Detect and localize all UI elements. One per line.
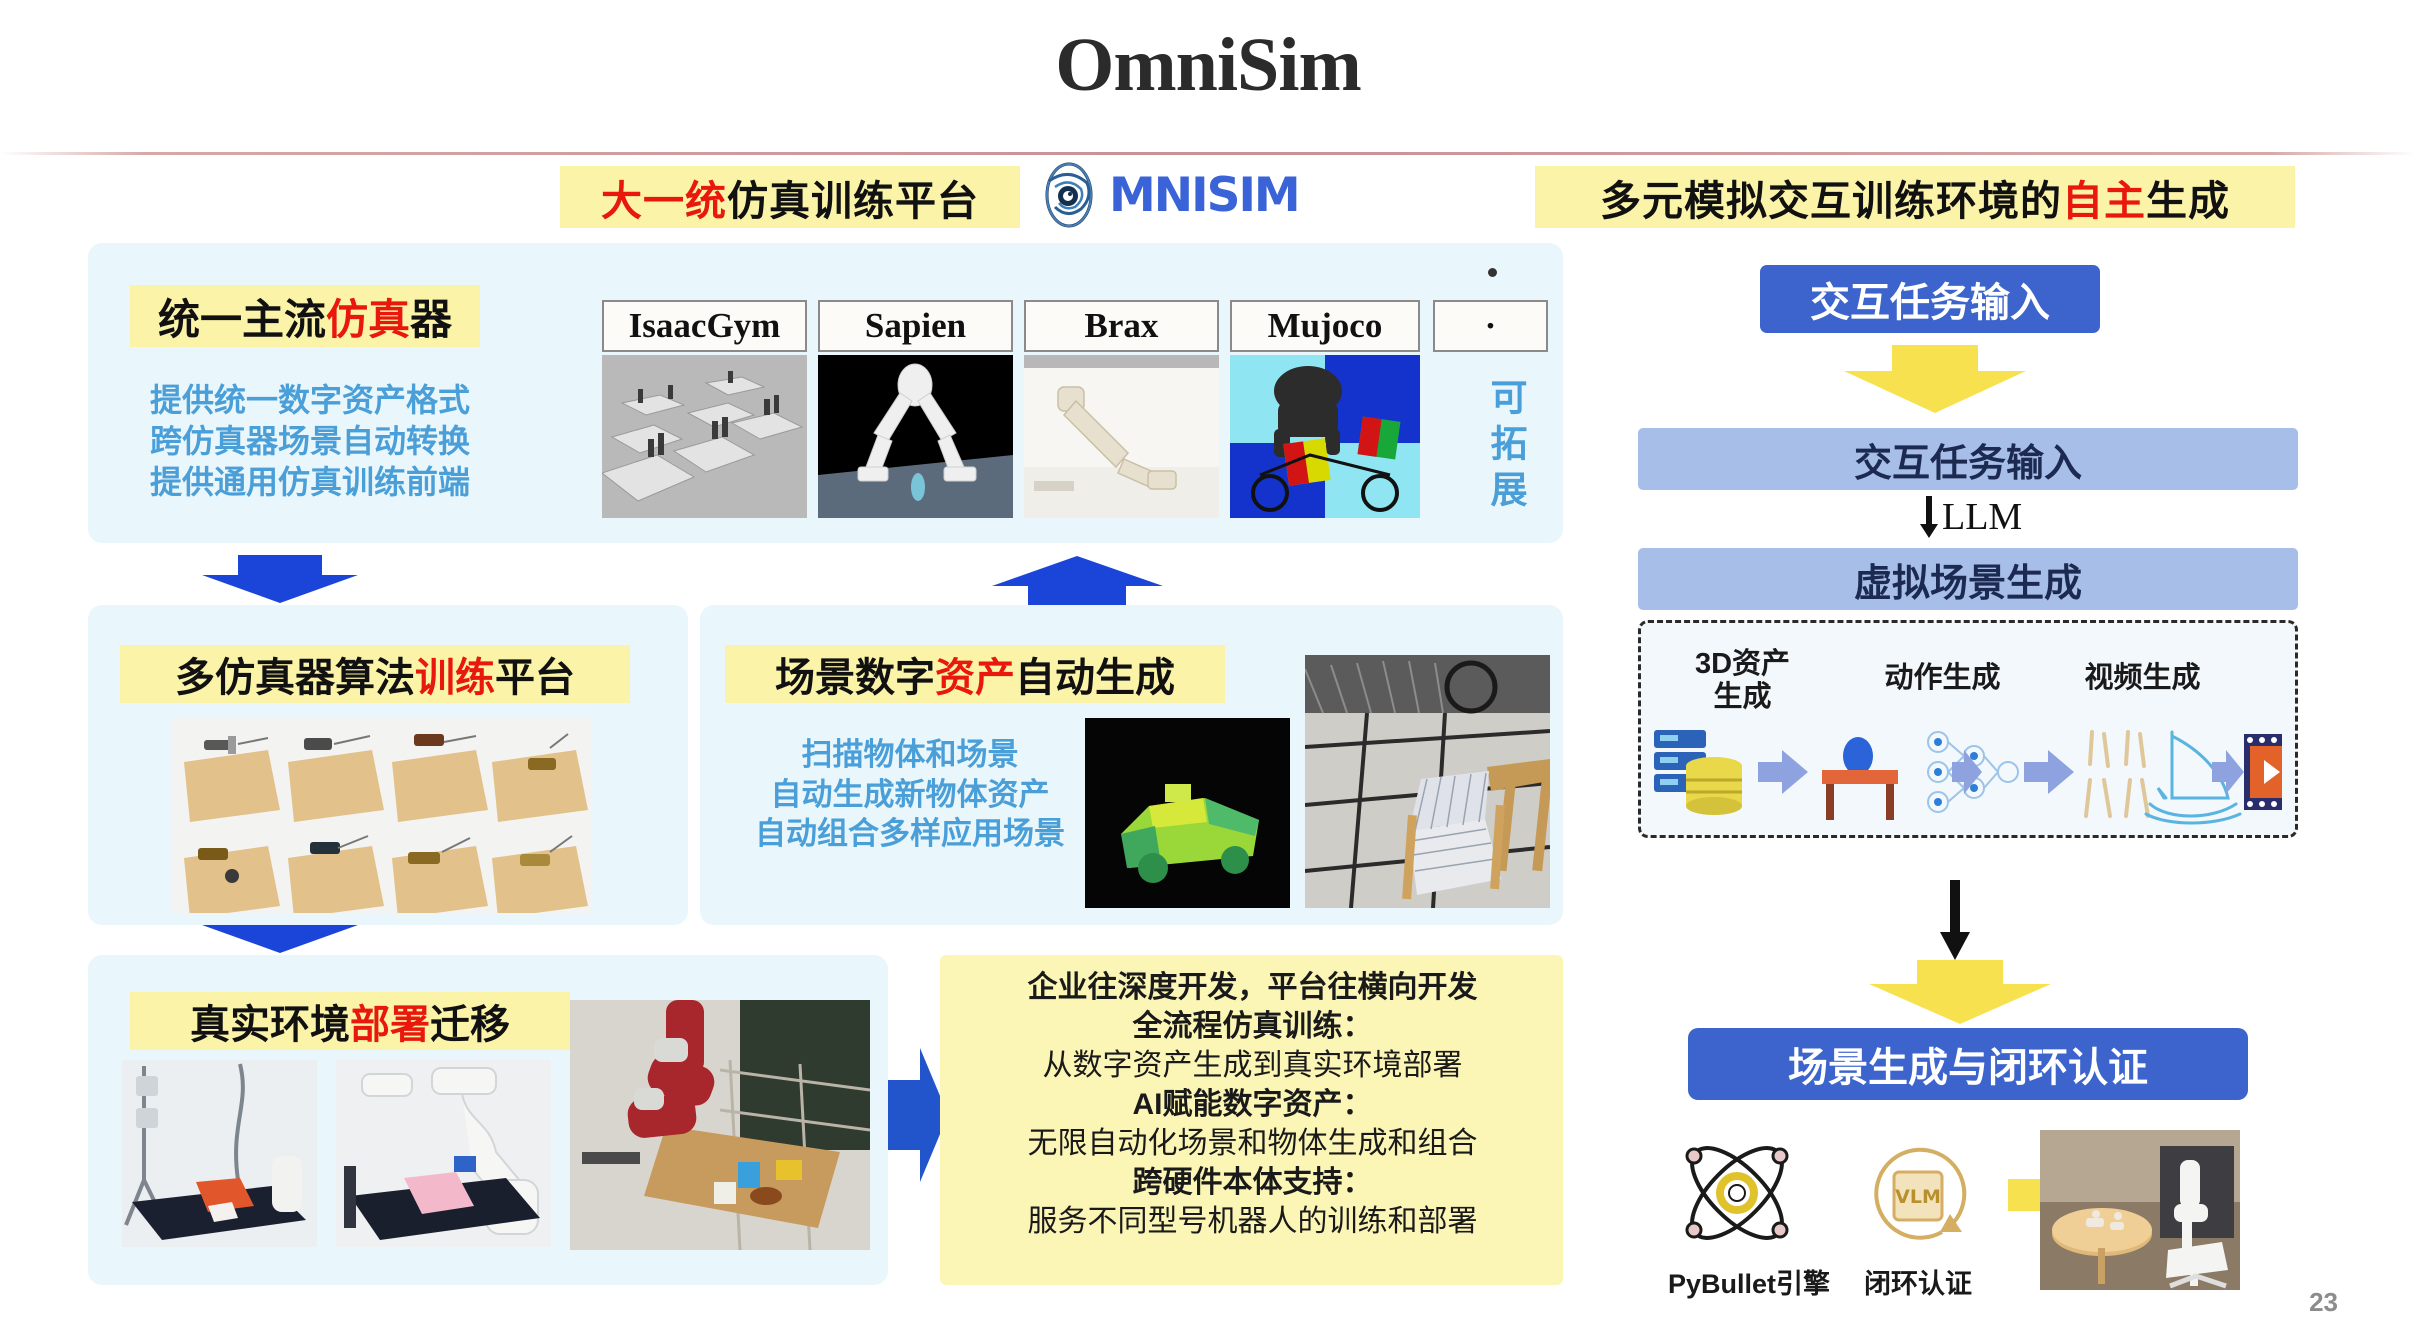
training-heading-pre: 多仿真器算法 [175,645,415,703]
deploy-heading-post: 迁移 [430,992,510,1050]
task-box: 交互任务输入 [1638,428,2298,490]
deploy-heading-highlight: 部署 [350,992,430,1050]
training-grid-thumbnail [172,718,592,913]
summary-text: 企业往深度开发，平台往横向开发 全流程仿真训练： 从数字资产生成到真实环境部署 … [950,968,1555,1241]
simulator-bullet-2: 跨仿真器场景自动转换 [140,421,480,462]
banner-right-highlight: 自主 [2062,167,2146,227]
training-heading-post: 平台 [495,645,575,703]
deploy-photo-1 [122,1060,317,1247]
scanned-truck-thumbnail [1085,718,1290,908]
banner-right: 多元模拟交互训练环境的自主生成 [1535,166,2295,228]
generator-action-label: 动作生成 [1855,662,2030,695]
summary-line-2: 全流程仿真训练： [950,1007,1555,1046]
closed-loop-certification-label: 闭环认证 [1858,1262,1978,1301]
simulator-bullet-1: 提供统一数字资产格式 [140,380,480,421]
pipeline-arrow-2-icon [2024,750,2074,794]
pipeline-arrow-3-icon [1952,722,1982,832]
summary-line-1: 企业往深度开发，平台往横向开发 [950,968,1555,1007]
closed-loop-certification-box[interactable]: 场景生成与闭环认证 [1688,1028,2248,1100]
sim-card-mujoco[interactable]: Mujoco [1230,300,1420,518]
summary-line-5: 无限自动化场景和物体生成和组合 [950,1124,1555,1163]
virtual-scene-generation-box: 虚拟场景生成 [1638,548,2298,610]
asset-heading-post: 自动生成 [1015,645,1175,703]
sim-card-mujoco-thumbnail [1230,355,1420,518]
omnisim-logo: MNISIM [1035,160,1380,230]
banner-left-highlight: 大一统 [601,167,727,227]
deploy-heading: 真实环境部署迁移 [130,992,570,1050]
arrow-down-black-icon [1940,880,1970,960]
video-file-icon [2244,734,2282,810]
svg-text:VLM: VLM [1895,1186,1941,1208]
pipeline-arrow-1-icon [1758,750,1808,794]
sim-card-isaacgym-thumbnail [602,355,807,518]
motion-sticks-icon [2086,732,2148,816]
simulator-bullets: 提供统一数字资产格式 跨仿真器场景自动转换 提供通用仿真训练前端 [140,380,480,503]
generator-3d-asset-label: 3D资产 生成 [1660,648,1825,715]
generated-scene-thumbnail [2040,1130,2240,1290]
arrow-down-yellow-1-icon [1840,345,2030,415]
asset-bullet-2: 自动生成新物体资产 [720,775,1100,815]
banner-left: 大一统仿真训练平台 [560,166,1020,228]
asset-heading: 场景数字资产自动生成 [725,645,1225,703]
sim-card-brax-thumbnail [1024,355,1219,518]
simulator-heading: 统一主流仿真器 [130,285,480,347]
simulator-heading-highlight: 仿真 [326,286,410,347]
sim-card-sapien[interactable]: Sapien [818,300,1013,518]
training-heading: 多仿真器算法训练平台 [120,645,630,703]
arrow-down-yellow-2-icon [1865,960,2055,1026]
summary-line-3: 从数字资产生成到真实环境部署 [950,1046,1555,1085]
summary-line-7: 服务不同型号机器人的训练和部署 [950,1202,1555,1241]
asset-bullet-1: 扫描物体和场景 [720,735,1100,775]
arrow-down-small-icon [1920,496,1938,538]
asset-bullets: 扫描物体和场景 自动生成新物体资产 自动组合多样应用场景 [720,735,1100,854]
more-dot-icon [1488,268,1497,277]
room-scene-thumbnail [1305,655,1550,908]
sim-card-brax-label: Brax [1024,300,1219,352]
sim-card-sapien-thumbnail [818,355,1013,518]
arrow-down-to-training-icon [200,555,360,603]
simulator-heading-pre: 统一主流 [158,286,326,347]
generator-video-label: 视频生成 [2055,662,2230,695]
llm-label-text: LLM [1942,495,2022,539]
deploy-heading-pre: 真实环境 [190,992,350,1050]
sim-card-isaacgym[interactable]: IsaacGym [602,300,807,518]
deploy-photo-2 [336,1060,551,1247]
pipeline-arrow-4-icon [2212,722,2246,832]
summary-line-6: 跨硬件本体支持： [950,1163,1555,1202]
title-divider [0,152,2416,155]
omnisim-spiral-eye-icon [1035,161,1103,229]
sim-card-mujoco-label: Mujoco [1230,300,1420,352]
sim-card-more-label: · [1433,300,1548,352]
summary-line-4: AI赋能数字资产： [950,1085,1555,1124]
page-title: OmniSim [0,22,2416,109]
sim-card-more[interactable]: · [1433,300,1548,352]
generator-3d-asset-line2: 生成 [1660,681,1825,714]
extensible-label: 可拓展 [1478,378,1532,516]
training-heading-highlight: 训练 [415,645,495,703]
sim-card-isaacgym-label: IsaacGym [602,300,807,352]
banner-right-post: 生成 [2146,167,2230,227]
asset-heading-highlight: 资产 [935,645,1015,703]
database-icon [1654,730,1742,815]
asset-bullet-3: 自动组合多样应用场景 [720,814,1100,854]
page-number: 23 [2309,1287,2338,1318]
arrow-up-from-asset-icon [990,556,1165,606]
sim-card-sapien-label: Sapien [818,300,1013,352]
deploy-photo-3 [570,1000,870,1250]
generator-3d-asset-line1: 3D资产 [1660,648,1825,681]
sim-card-brax[interactable]: Brax [1024,300,1219,518]
interaction-task-input-box[interactable]: 交互任务输入 [1760,265,2100,333]
omnisim-wordmark: MNISIM [1109,168,1299,223]
simulator-heading-post: 器 [410,286,452,347]
table-object-icon [1822,737,1898,820]
pybullet-engine-label: PyBullet引擎 [1668,1262,1818,1301]
llm-step-label: LLM [1920,495,2022,539]
asset-heading-pre: 场景数字 [775,645,935,703]
banner-left-rest: 仿真训练平台 [727,167,979,227]
vlm-closed-loop-icon: VLM [1862,1140,1974,1252]
banner-right-pre: 多元模拟交互训练环境的 [1600,167,2062,227]
pybullet-atom-icon [1672,1128,1802,1258]
simulator-bullet-3: 提供通用仿真训练前端 [140,462,480,503]
